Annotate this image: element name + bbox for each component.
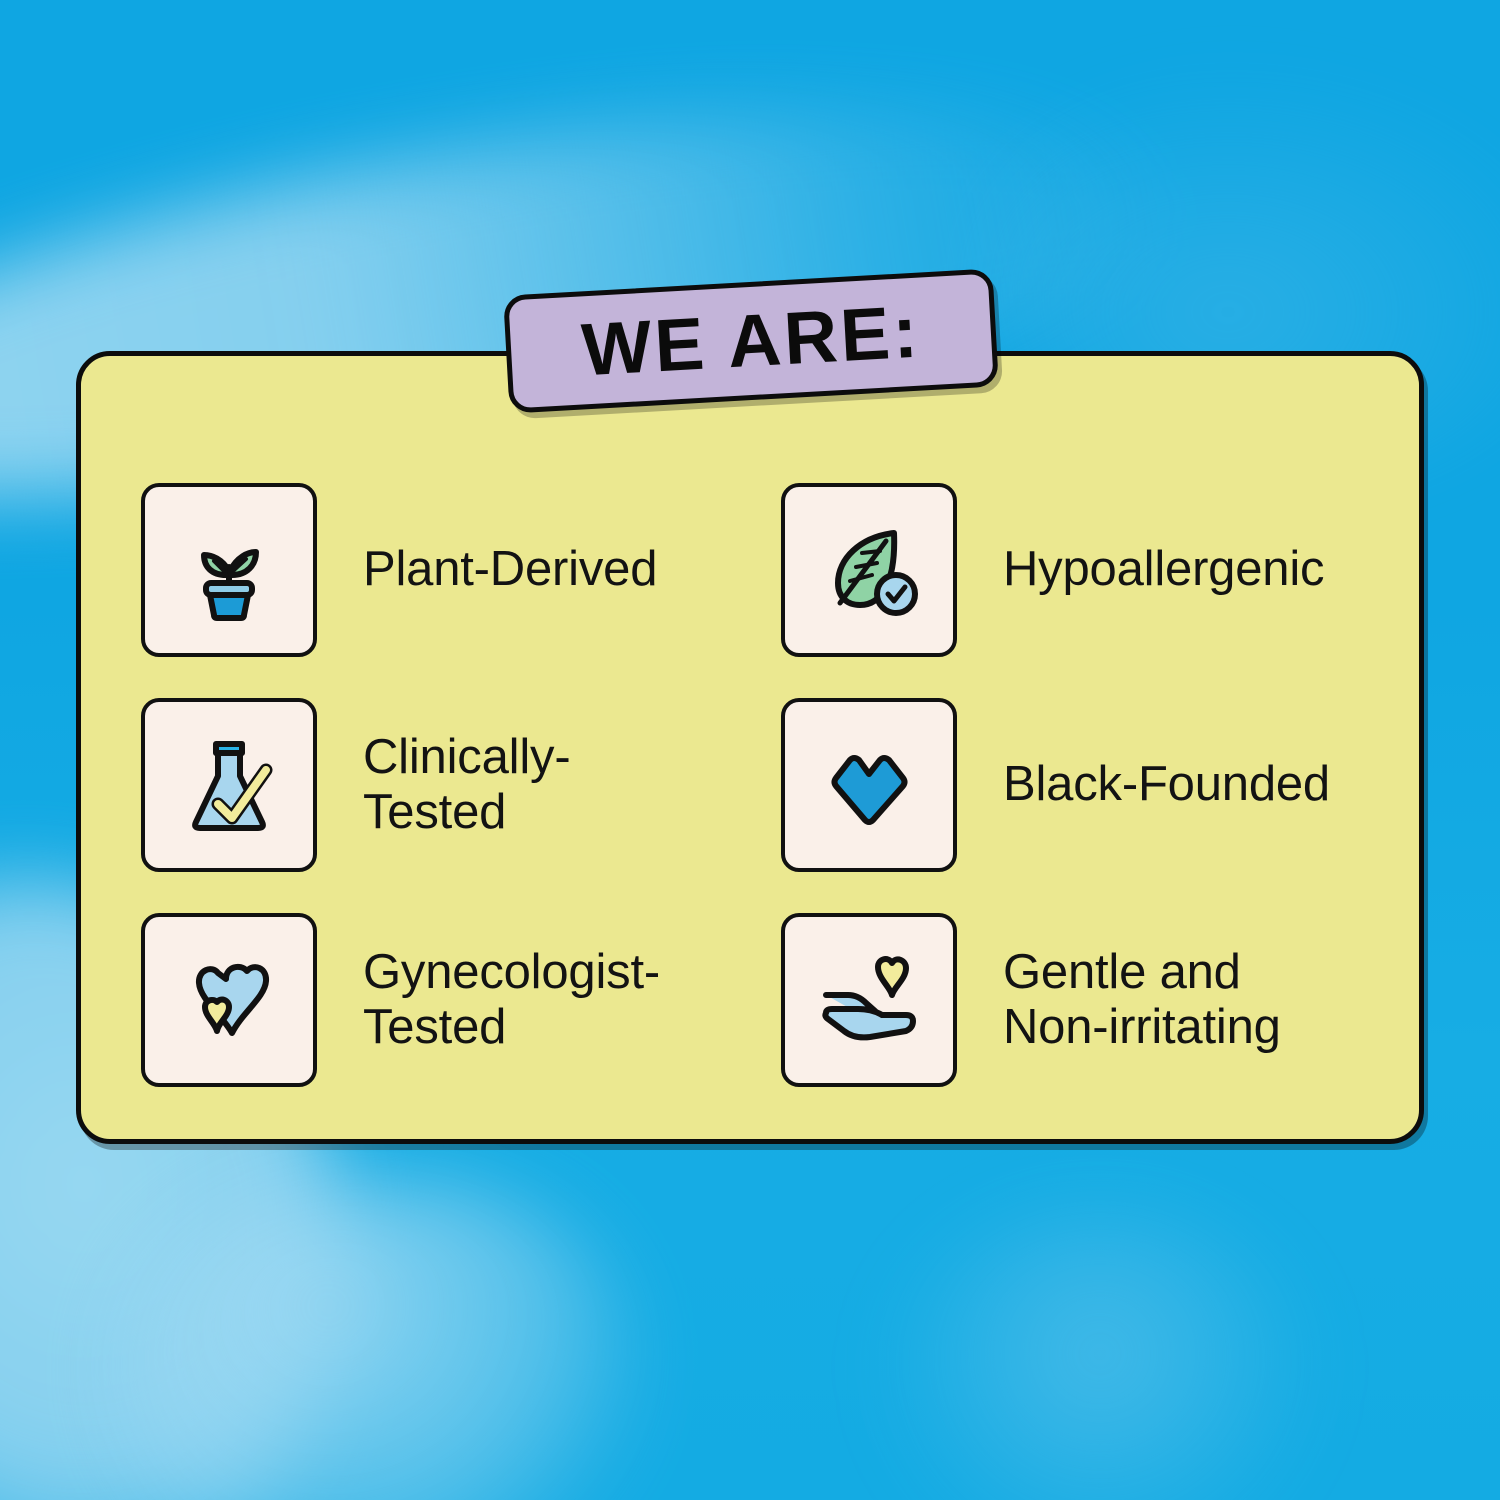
flask-check-icon — [141, 698, 317, 872]
feature-black-founded: Black-Founded — [781, 698, 1381, 872]
feature-label: Gynecologist- Tested — [363, 945, 660, 1056]
feature-label: Hypoallergenic — [1003, 542, 1324, 597]
potted-plant-icon — [141, 483, 317, 657]
feature-gynecologist-tested: Gynecologist- Tested — [141, 913, 781, 1087]
hand-heart-icon — [781, 913, 957, 1087]
feature-label: Clinically- Tested — [363, 730, 570, 841]
infographic-stage: Plant-Derived Hypoallergenic — [0, 0, 1500, 1500]
feature-plant-derived: Plant-Derived — [141, 483, 781, 657]
feature-hypoallergenic: Hypoallergenic — [781, 483, 1381, 657]
angular-heart-icon — [781, 698, 957, 872]
feature-gentle-non-irritating: Gentle and Non-irritating — [781, 913, 1381, 1087]
feature-label: Plant-Derived — [363, 542, 657, 597]
leaf-check-icon — [781, 483, 957, 657]
two-hearts-icon — [141, 913, 317, 1087]
features-panel: Plant-Derived Hypoallergenic — [76, 351, 1424, 1144]
feature-label: Black-Founded — [1003, 757, 1330, 812]
feature-clinically-tested: Clinically- Tested — [141, 698, 781, 872]
badge-title: WE ARE: — [580, 295, 923, 388]
feature-label: Gentle and Non-irritating — [1003, 945, 1281, 1056]
features-grid: Plant-Derived Hypoallergenic — [141, 483, 1381, 1128]
